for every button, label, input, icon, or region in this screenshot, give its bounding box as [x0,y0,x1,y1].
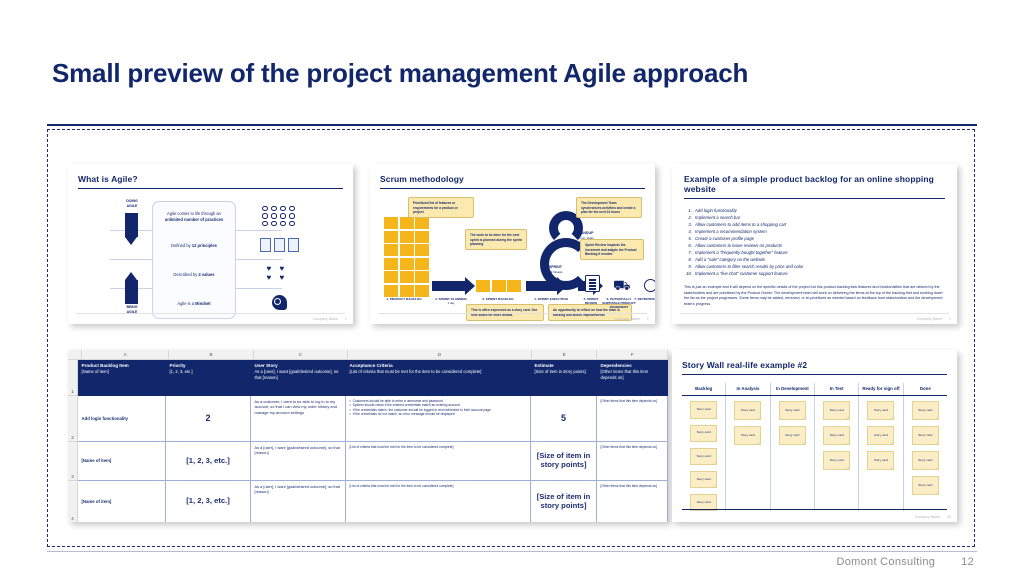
cell-backlog-item[interactable]: [Name of item] [78,481,166,522]
stage-5: 5. SPRINT REVIEW [579,298,603,306]
cell-backlog-item[interactable]: Add login functionality [78,396,166,442]
mini-slide-scrum-methodology[interactable]: Scrum methodology STANDUP 1 [370,164,655,324]
stage-3: 3. SPRINT BACKLOG [474,298,522,302]
card-divider [684,198,945,199]
backlog-list-item: 10.Implement a "live chat" customer supp… [684,271,945,278]
backlog-item-list: 1.Add login functionality2.Implement a s… [684,208,945,278]
wall-column-header: In Development [771,383,815,395]
spreadsheet-row-headers[interactable]: 1234 [68,360,78,522]
spreadsheet-column-headers[interactable]: ABCDEF [68,350,668,360]
list-text: Implement a search bar [695,215,740,222]
story-card[interactable]: Story card [867,426,894,445]
table-header-cell[interactable]: Dependencies[Other items that this item … [597,360,668,396]
cell-estimate[interactable]: 5 [531,396,597,442]
being-agile-arrow-icon [125,272,138,304]
list-text: Implement a recommendation system [695,229,767,236]
list-text: Create a customer profile page [695,236,754,243]
table-row: [Name of item][1, 2, 3, etc.]As a [user]… [78,481,668,522]
story-wall-board: BacklogIn AnalysisIn DevelopmentIn TestR… [682,383,947,511]
list-number: 6. [684,243,692,250]
story-card[interactable]: Story card [823,451,850,470]
arrow-to-sprint-planning-icon [432,281,466,291]
wall-column-ready-for-sign-off: Story cardStory cardStory card [859,396,903,511]
scrum-end-icons: ⛟ [585,275,655,292]
wall-column-header: In Analysis [726,383,770,395]
cell-priority[interactable]: [1, 2, 3, etc.] [166,442,251,481]
product-backlog-grid-icon [384,217,429,297]
spreadsheet-corner-cell[interactable] [68,350,82,359]
table-header-cell[interactable]: Priority[1, 2, 3, etc.] [166,360,251,396]
cell-dependencies[interactable]: [Other items that this item depends on] [597,481,668,522]
card-footer: Company Name 1 [917,317,951,321]
spreadsheet-body: 1234 Product Backlog Item[Name of item]P… [68,360,668,522]
card-divider [682,374,947,375]
card-footer: Company Name 20 [915,515,951,519]
mini-slide-story-wall[interactable]: Story Wall real-life example #2 BacklogI… [672,350,957,522]
story-card[interactable]: Story card [690,448,717,465]
story-card[interactable]: Story card [690,401,717,418]
stage-1: 1. PRODUCT BACKLOG [380,298,428,302]
spreadsheet-grid[interactable]: Product Backlog Item[Name of item]Priori… [78,360,668,522]
slide-canvas: Small preview of the project management … [0,0,1024,576]
card-footer-company: Company Name [917,317,942,321]
cell-priority[interactable]: 2 [166,396,251,442]
list-text: Add a "sale" category on the website [695,257,765,264]
spreadsheet-col-A[interactable]: A [82,350,169,359]
list-number: 2. [684,215,692,222]
cell-backlog-item[interactable]: [Name of item] [78,442,166,481]
story-card[interactable]: Story card [690,425,717,442]
card-footer-rule [378,313,647,314]
card-footer-rule [76,313,345,314]
stage-6: 6. POTENTIALLY SHIPPABLE PRODUCT INCREME… [602,298,636,310]
table-header-cell[interactable]: User StoryAs a [user], I want [goal/desi… [251,360,346,396]
cell-acceptance-criteria[interactable]: [List of criteria that must be met for t… [346,442,531,481]
spreadsheet-col-C[interactable]: C [254,350,348,359]
wall-column-backlog: Story cardStory cardStory cardStory card… [682,396,726,511]
list-number: 9. [684,264,692,271]
scrum-diagram: STANDUP 15 min, Daily SPRINT 1-4 Weeks ⛟… [380,195,645,315]
card-footer: Company Name 1 [313,317,347,321]
spreadsheet-col-B[interactable]: B [169,350,253,359]
list-text: Implement a "frequently bought together"… [695,250,788,257]
card-footer-page: 1 [345,317,347,321]
backlog-list-item: 4.Implement a recommendation system [684,229,945,236]
cell-user-story[interactable]: As a [user], I want [goal/desired outcom… [251,481,346,522]
list-text: Allow customers to add items to a shoppi… [695,222,786,229]
wall-column-done: Story cardStory cardStory cardStory card [904,396,947,511]
cell-estimate[interactable]: [Size of item in story points] [531,442,597,481]
list-number: 10. [684,271,692,278]
agile-diagram: DOINGAGILE BEINGAGILE Agile comes to lif… [78,199,343,317]
story-card[interactable]: Story card [867,451,894,470]
list-number: 4. [684,229,692,236]
spreadsheet-row-4[interactable]: 4 [68,481,77,522]
dots-grid-icon [246,201,312,230]
card-title-what-is-agile: What is Agile? [78,174,343,184]
story-card[interactable]: Story card [779,426,806,445]
stage-2: 2. SPRINT PLANNING 1 day [428,298,474,306]
story-wall-columns: Story cardStory cardStory cardStory card… [682,396,947,511]
table-header-row: Product Backlog Item[Name of item]Priori… [78,360,668,396]
card-divider [78,188,343,189]
card-footer-company: Company Name [615,317,640,321]
wall-column-header: Ready for sign off [859,383,903,395]
wall-column-header: Backlog [682,383,726,395]
cell-estimate[interactable]: [Size of item in story points] [531,481,597,522]
agile-icon-column: ♥♥♥♥ [246,201,312,317]
slide-footer: Domont Consulting 12 [837,556,975,568]
cell-dependencies[interactable]: [Other items that this item depends on] [597,396,668,442]
story-card[interactable]: Story card [823,401,850,420]
header-placeholder: [Name of item] [82,369,162,375]
table-header-cell[interactable]: Product Backlog Item[Name of item] [78,360,166,396]
table-header-cell[interactable]: Estimate[Size of item in story points] [531,360,597,396]
spreadsheet-col-E[interactable]: E [532,350,598,359]
list-text: Add login functionality [695,208,737,215]
cell-priority[interactable]: [1, 2, 3, etc.] [166,481,251,522]
top-rule [47,124,977,126]
story-card[interactable]: Story card [912,401,939,420]
card-divider [380,188,645,189]
backlog-list-item: 9.Allow customers to filter search resul… [684,264,945,271]
story-card[interactable]: Story card [867,401,894,420]
list-number: 8. [684,257,692,264]
stage-4: 4. SPRINT EXECUTION [523,298,579,302]
page-title: Small preview of the project management … [52,58,748,89]
cell-acceptance-criteria[interactable]: Customers should be able to enter a user… [346,396,531,442]
card-footer-page: 20 [947,515,951,519]
backlog-list-item: 5.Create a customer profile page [684,236,945,243]
cell-user-story[interactable]: As a customer, I want to be able to log … [251,396,346,442]
story-card[interactable]: Story card [734,401,761,420]
header-placeholder: [Other items that this item depends on] [601,369,664,380]
list-number: 5. [684,236,692,243]
story-card[interactable]: Story card [912,476,939,495]
story-card[interactable]: Story card [690,471,717,488]
mini-slide-what-is-agile[interactable]: What is Agile? DOINGAGILE BEINGAGILE Agi… [68,164,353,324]
sprint-label: SPRINT 1-4 Weeks [548,265,563,274]
hearts-icon: ♥♥♥♥ [246,259,312,288]
story-card[interactable]: Story card [912,451,939,470]
card-footer-page: 1 [949,317,951,321]
stage-7: 7. RETROSPECTIVE [634,298,655,302]
mini-slide-backlog-spreadsheet[interactable]: ABCDEF 1234 Product Backlog Item[Name of… [68,350,668,522]
card-footer: Company Name 1 [615,317,649,321]
card-footer-company: Company Name [915,515,940,519]
wall-column-in-development: Story cardStory card [771,396,815,511]
wall-column-header: In Test [815,383,859,395]
backlog-explanation: This is just an example and it will depe… [684,285,945,308]
spreadsheet-col-F[interactable]: F [597,350,668,359]
table-row: Add login functionality2As a customer, I… [78,396,668,442]
agile-row-principles: Defined by 12 principles [153,231,235,260]
footer-brand: Domont Consulting [837,556,936,568]
card-title-backlog-example: Example of a simple product backlog for … [684,174,945,194]
bubble-product-backlog: Prioritized list of features or requirem… [408,197,474,218]
wall-column-in-analysis: Story cardStory card [726,396,770,511]
card-footer-page: 1 [647,317,649,321]
cell-acceptance-criteria[interactable]: [List of criteria that must be met for t… [346,481,531,522]
backlog-list-item: 8.Add a "sale" category on the website [684,257,945,264]
wall-column-in-test: Story cardStory cardStory card [815,396,859,511]
criteria-list: Customers should be able to enter a user… [350,399,527,417]
list-number: 3. [684,222,692,229]
delivery-truck-icon: ⛟ [613,278,631,292]
list-text: Implement a "live chat" customer support… [695,271,788,278]
backlog-list-item: 2.Implement a search bar [684,215,945,222]
agile-rows: Agile comes to life through an unlimited… [152,201,236,319]
list-number: 7. [684,250,692,257]
footer-page-number: 12 [961,556,974,568]
header-placeholder: [1, 2, 3, etc.] [170,369,247,375]
story-wall-column-headers: BacklogIn AnalysisIn DevelopmentIn TestR… [682,383,947,396]
story-card[interactable]: Story card [779,401,806,420]
table-header-cell[interactable]: Acceptance Criteria[List of criteria tha… [346,360,531,396]
wall-column-header: Done [904,383,947,395]
card-title-scrum: Scrum methodology [380,174,645,184]
story-card[interactable]: Story card [912,426,939,445]
story-card[interactable]: Story card [734,426,761,445]
mini-slide-product-backlog-example[interactable]: Example of a simple product backlog for … [672,164,957,324]
bubble-sprint-review: Sprint Review inspects the increment and… [580,239,644,260]
criteria-item: If the credentials do not match, an erro… [350,412,527,416]
table-row: [Name of item][1, 2, 3, etc.]As a [user]… [78,442,668,481]
agile-row-practices: Agile comes to life through an unlimited… [153,202,235,231]
magnifier-icon [644,279,655,292]
spreadsheet-row-2[interactable]: 2 [68,396,77,442]
backlog-list-item: 7.Implement a "frequently bought togethe… [684,250,945,257]
doing-agile-label: DOINGAGILE [116,199,148,208]
cell-dependencies[interactable]: [Other items that this item depends on] [597,442,668,481]
header-placeholder: [List of criteria that must be met for t… [350,369,527,375]
doing-agile-arrow-icon [125,213,138,245]
books-icon [246,230,312,259]
card-footer-rule [680,313,949,314]
agile-row-values: Described by 4 values [153,260,235,289]
spreadsheet[interactable]: ABCDEF 1234 Product Backlog Item[Name of… [68,350,668,522]
spreadsheet-row-3[interactable]: 3 [68,442,77,481]
backlog-list-item: 1.Add login functionality [684,208,945,215]
backlog-list-item: 3.Allow customers to add items to a shop… [684,222,945,229]
list-text: Allow customers to filter search results… [695,264,803,271]
card-footer-company: Company Name [313,317,338,321]
card-footer-rule [682,509,947,510]
bubble-sprint-planning: The work to be done for the next sprint … [465,229,527,250]
checklist-icon [585,275,600,292]
bubble-standup: The Development Team synchronizes activi… [576,197,642,218]
header-placeholder: As a [user], I want [goal/desired outcom… [255,369,342,380]
spreadsheet-row-1[interactable]: 1 [68,360,77,396]
sprint-backlog-icon [476,280,521,292]
backlog-list-item: 6.Allow customers to leave reviews on pr… [684,243,945,250]
card-title-story-wall: Story Wall real-life example #2 [682,360,947,370]
bottom-rule [47,551,977,552]
spreadsheet-col-D[interactable]: D [348,350,532,359]
agile-row-mindset: Agile is a Mindset [153,289,235,318]
list-number: 1. [684,208,692,215]
cell-user-story[interactable]: As a [user], I want [goal/desired outcom… [251,442,346,481]
story-card[interactable]: Story card [823,426,850,445]
list-text: Allow customers to leave reviews on prod… [695,243,782,250]
header-placeholder: [Size of item in story points] [535,369,593,375]
